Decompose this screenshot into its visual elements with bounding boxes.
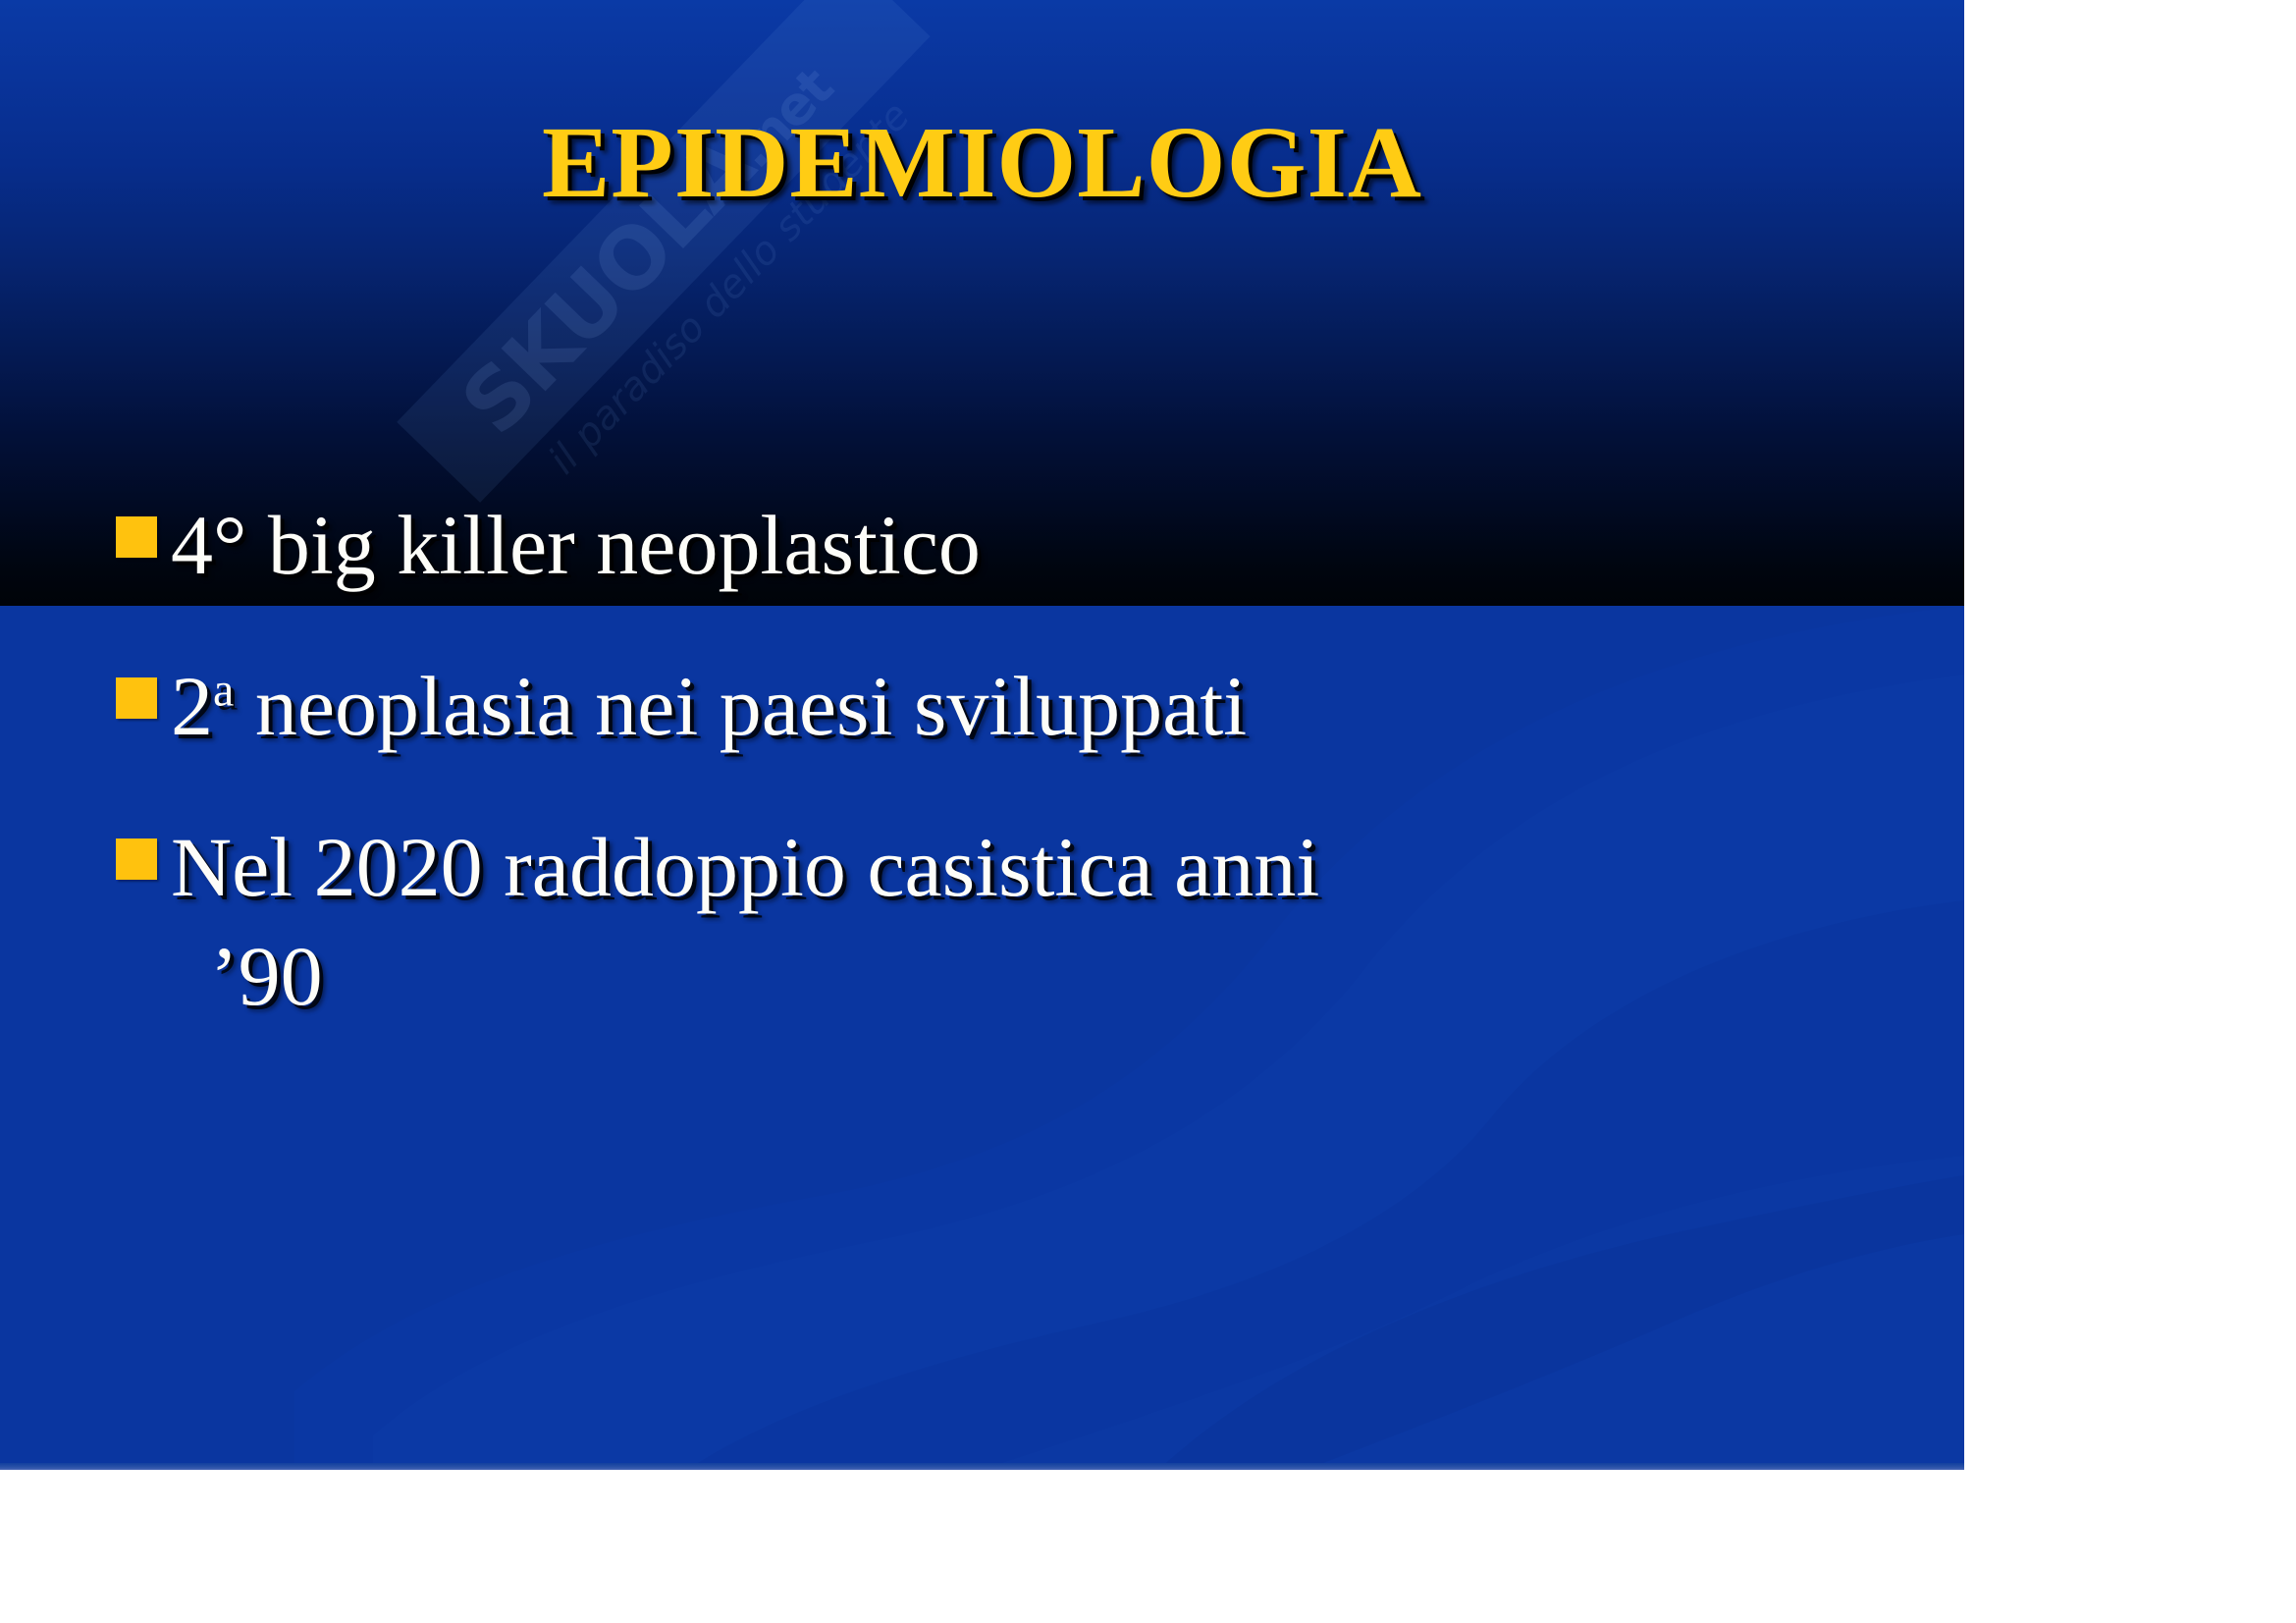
bullet-1-lead: 4° big killer neoplastico bbox=[171, 498, 981, 592]
bullet-list: 4° big killer neoplastico 2a neoplasia n… bbox=[116, 491, 1785, 1083]
presentation-slide: SKUOLA.net il paradiso dello studente EP… bbox=[0, 0, 1964, 1470]
bullet-text-3: Nel 2020 raddoppio casistica anni’90 bbox=[171, 813, 1785, 1033]
bullet-text-2: 2a neoplasia nei paesi sviluppati bbox=[171, 652, 1785, 762]
bullet-item-2: 2a neoplasia nei paesi sviluppati bbox=[116, 652, 1785, 762]
square-bullet-icon bbox=[116, 677, 157, 719]
bullet-item-3: Nel 2020 raddoppio casistica anni’90 bbox=[116, 813, 1785, 1033]
bullet-item-1: 4° big killer neoplastico bbox=[116, 491, 1785, 601]
bullet-text-1: 4° big killer neoplastico bbox=[171, 491, 1785, 601]
square-bullet-icon bbox=[116, 839, 157, 880]
slide-bottom-rule bbox=[0, 1463, 1964, 1470]
bullet-2-lead: 2 bbox=[171, 659, 213, 753]
slide-title: EPIDEMIOLOGIA bbox=[0, 106, 1964, 220]
bullet-3-lead: Nel 2020 raddoppio casistica anni bbox=[171, 820, 1319, 914]
bullet-2-tail: neoplasia nei paesi sviluppati bbox=[234, 659, 1247, 753]
bullet-3-wrapped-line: ’90 bbox=[171, 922, 1785, 1032]
bullet-2-superscript: a bbox=[213, 664, 234, 716]
square-bullet-icon bbox=[116, 516, 157, 558]
